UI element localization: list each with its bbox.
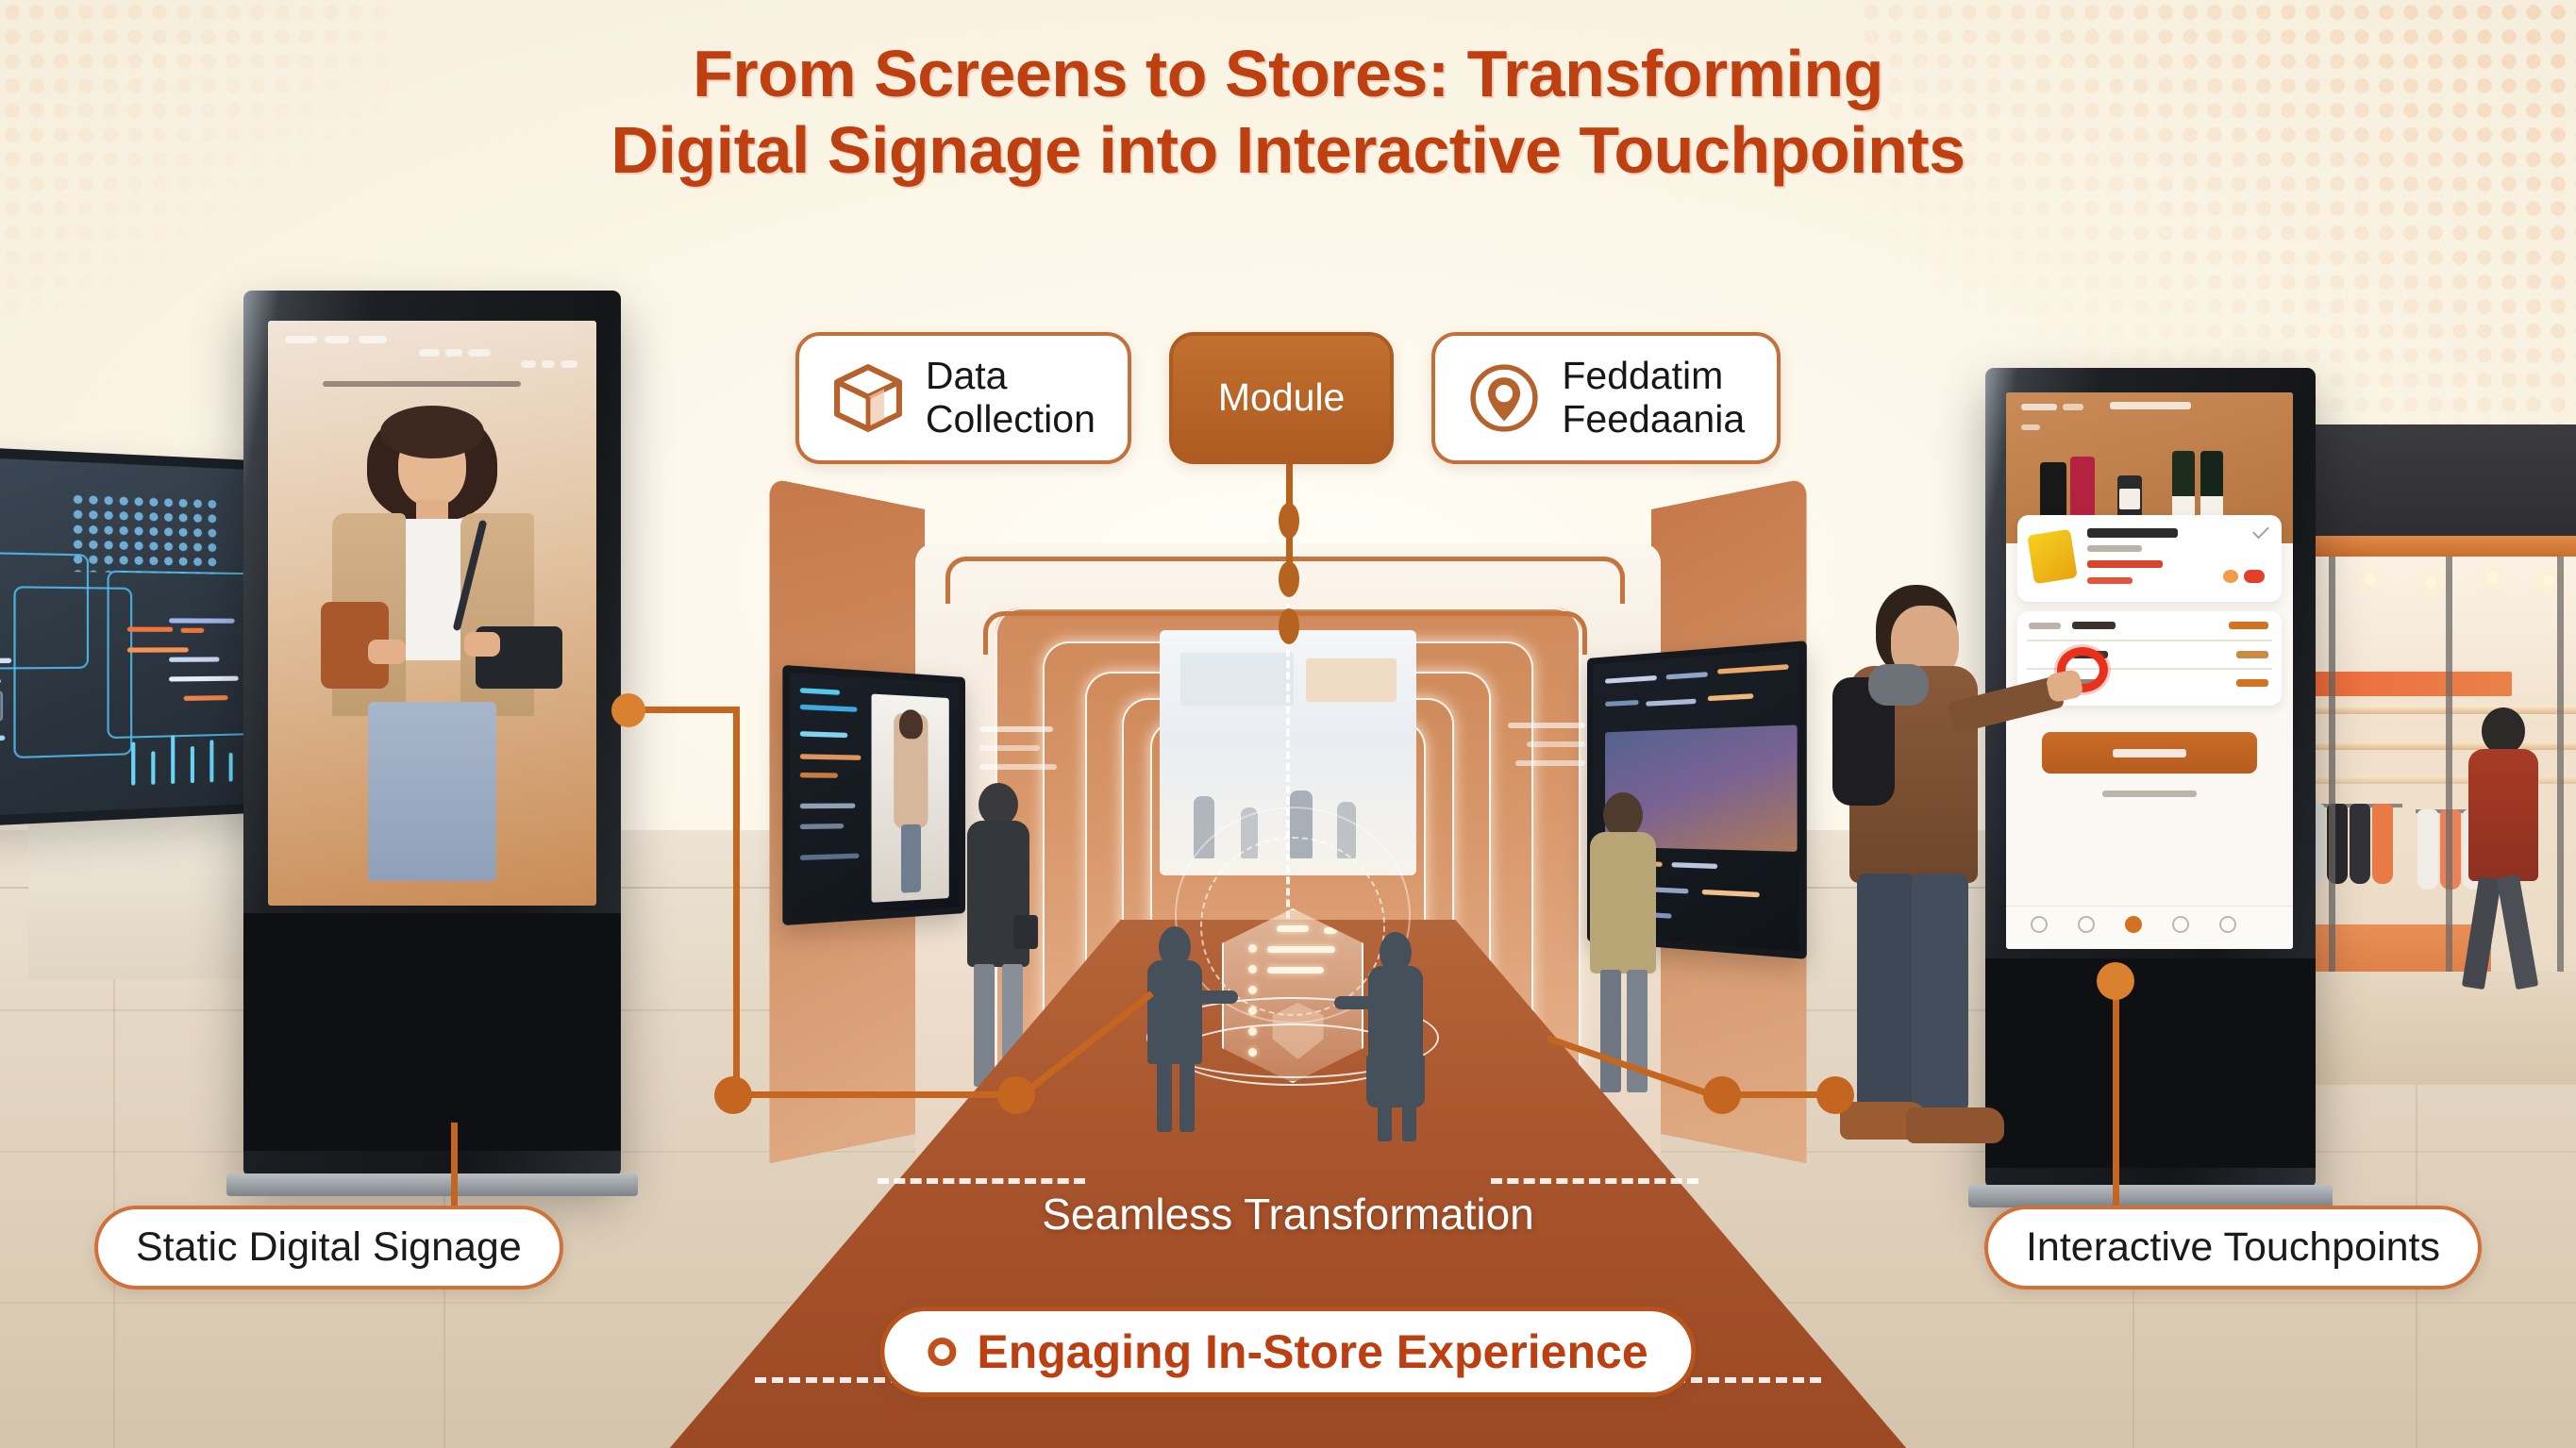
tag-engaging-experience[interactable]: Engaging In-Store Experience	[879, 1307, 1696, 1397]
location-pin-icon	[1467, 361, 1541, 435]
left-kiosk-node	[611, 693, 645, 727]
wall-screen-left	[782, 665, 965, 925]
pill-feedback-line-1: Feddatim	[1562, 354, 1723, 397]
ring-icon	[928, 1338, 956, 1366]
module-connector-node-2	[1279, 561, 1299, 597]
pill-data-collection[interactable]: Data Collection	[795, 332, 1131, 464]
nav-orders-icon[interactable]	[2172, 916, 2189, 933]
tag-interactive-touchpoints[interactable]: Interactive Touchpoints	[1984, 1206, 2482, 1290]
module-connector-node-3	[1279, 608, 1299, 644]
nav-home-icon[interactable]	[2031, 916, 2048, 933]
pill-feedback-line-2: Feedaania	[1562, 397, 1745, 441]
retail-storefront	[2274, 424, 2576, 1085]
nav-search-icon[interactable]	[2078, 916, 2095, 933]
pill-feedback-label: Feddatim Feedaania	[1562, 355, 1745, 441]
nav-cart-icon[interactable]	[2125, 916, 2142, 933]
right-conn-node-2	[1816, 1076, 1854, 1114]
pill-module[interactable]: Module	[1169, 332, 1394, 464]
kiosk-right-display[interactable]	[2006, 392, 2293, 949]
holo-figure-right-body	[1368, 966, 1423, 1060]
module-pill-row: Data Collection Module Feddatim Feedaani…	[0, 332, 2576, 464]
left-conn-node-2	[997, 1076, 1035, 1114]
pill-label-line-2: Collection	[926, 397, 1096, 441]
tag-engaging-experience-label: Engaging In-Store Experience	[977, 1324, 1648, 1379]
left-conn-h2	[733, 1091, 1016, 1098]
add-to-cart-button[interactable]	[2042, 732, 2257, 774]
pill-module-label: Module	[1218, 376, 1345, 420]
kiosk-shopper	[1815, 585, 2032, 1207]
left-conn-node-1	[714, 1076, 752, 1114]
title-line-1: From Screens to Stores: Transforming	[0, 36, 2576, 112]
left-label-stem	[451, 1123, 458, 1213]
holo-figure-left-body	[1147, 960, 1202, 1064]
page-title: From Screens to Stores: Transforming Dig…	[0, 36, 2576, 189]
left-conn-v1	[733, 707, 740, 1098]
app-bottom-nav[interactable]	[2006, 906, 2293, 949]
helper-text	[2102, 791, 2197, 797]
right-label-stem	[2113, 981, 2119, 1217]
title-line-2: Digital Signage into Interactive Touchpo…	[0, 112, 2576, 189]
box-icon	[831, 361, 905, 435]
nav-profile-icon[interactable]	[2219, 916, 2236, 933]
corridor-caption: Seamless Transformation	[1042, 1189, 1534, 1240]
module-connector-node-1	[1279, 503, 1299, 539]
carpet-dash-right	[1491, 1178, 1698, 1184]
right-kiosk-node	[2097, 962, 2134, 1000]
pill-label-line-1: Data	[926, 354, 1008, 397]
infographic-canvas: From Screens to Stores: Transforming Dig…	[0, 0, 2576, 1448]
interactive-touchpoint-kiosk[interactable]	[1985, 368, 2316, 1189]
right-conn-node-1	[1703, 1076, 1741, 1114]
pill-feedback[interactable]: Feddatim Feedaania	[1431, 332, 1781, 464]
kiosk-left-model-photo	[281, 402, 583, 906]
storefront-shopper	[2461, 707, 2546, 990]
tag-static-digital-signage[interactable]: Static Digital Signage	[94, 1206, 563, 1290]
pill-data-collection-label: Data Collection	[926, 355, 1096, 441]
product-detail-card[interactable]	[2017, 515, 2282, 602]
carpet-dash-left	[878, 1178, 1085, 1184]
